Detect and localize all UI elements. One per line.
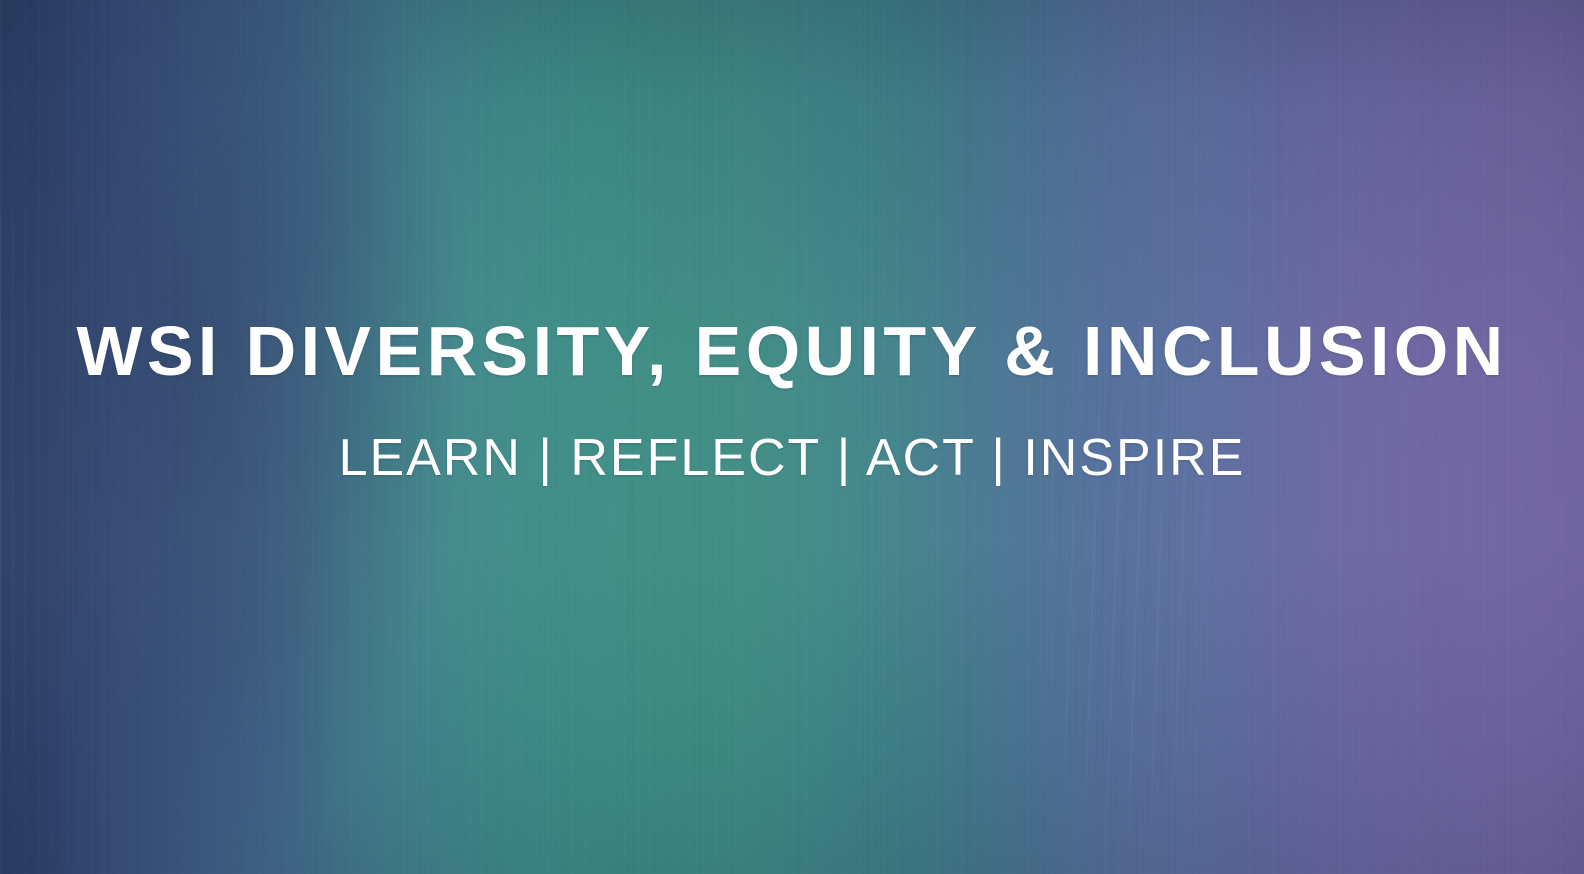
banner-headline: WSI DIVERSITY, EQUITY & INCLUSION [76, 316, 1507, 386]
banner-tagline: LEARN | REFLECT | ACT | INSPIRE [339, 432, 1246, 484]
dei-banner: WSI DIVERSITY, EQUITY & INCLUSION LEARN … [0, 0, 1584, 874]
banner-content: WSI DIVERSITY, EQUITY & INCLUSION LEARN … [0, 0, 1584, 874]
